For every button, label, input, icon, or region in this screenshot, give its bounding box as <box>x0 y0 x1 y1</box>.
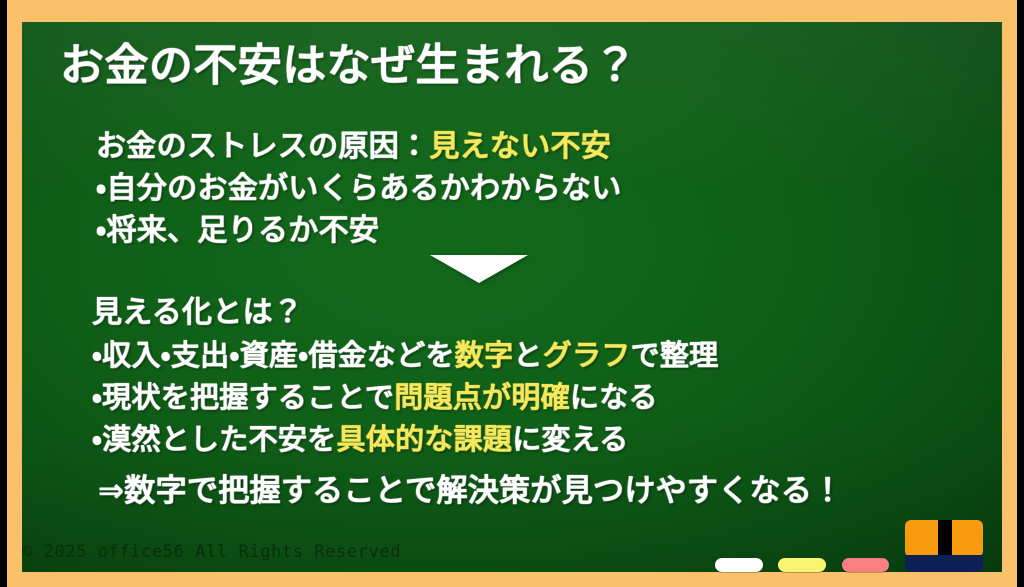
list-item-post: に変える <box>512 422 628 456</box>
list-item-highlight: 数字 <box>455 338 514 372</box>
list-item: ・漠然とした不安を具体的な課題に変える <box>92 418 718 460</box>
conclusion-text: ⇒数字で把握することで解決策が見つけやすくなる！ <box>98 470 843 512</box>
list-item-highlight: 具体的な課題 <box>336 422 512 456</box>
section-a-heading: お金のストレスの原因：見えない不安 <box>96 126 622 168</box>
list-item: ・将来、足りるか不安 <box>96 210 622 252</box>
pink-chalk-stick[interactable] <box>842 558 889 572</box>
list-item-pre: ・収入・支出・資産・借金などを <box>92 338 455 372</box>
eraser-base <box>905 555 983 572</box>
section-a-heading-plain: お金のストレスの原因： <box>96 129 429 164</box>
list-item: ・現状を把握することで問題点が明確になる <box>92 376 718 418</box>
list-item-pre: ・漠然とした不安を <box>92 422 336 456</box>
list-item: ・収入・支出・資産・借金などを数字とグラフで整理 <box>92 334 718 376</box>
list-item-highlight: グラフ <box>543 338 631 372</box>
list-item-pre: ・現状を把握することで <box>92 380 394 414</box>
list-item-post: で整理 <box>631 338 719 372</box>
section-a-heading-highlight: 見えない不安 <box>429 129 611 164</box>
slide-root: お金の不安はなぜ生まれる？ お金のストレスの原因：見えない不安 ・自分のお金がい… <box>0 0 1024 587</box>
list-item-highlight: 問題点が明確 <box>394 380 570 414</box>
section-money-stress: お金のストレスの原因：見えない不安 ・自分のお金がいくらあるかわからない ・将来… <box>96 126 622 252</box>
white-chalk-stick[interactable] <box>715 558 763 572</box>
down-triangle-arrow-icon <box>430 255 528 283</box>
section-visualization: 見える化とは？ ・収入・支出・資産・借金などを数字とグラフで整理 ・現状を把握す… <box>92 292 718 460</box>
eraser-stripe <box>938 520 952 557</box>
page-title: お金の不安はなぜ生まれる？ <box>60 42 638 90</box>
list-item-post: になる <box>570 380 658 414</box>
yellow-chalk-stick[interactable] <box>778 558 826 572</box>
list-item-mid: と <box>513 338 542 372</box>
slide-content: お金の不安はなぜ生まれる？ お金のストレスの原因：見えない不安 ・自分のお金がい… <box>0 0 1024 587</box>
copyright-notice: © 2025 office56 All Rights Reserved <box>22 542 401 562</box>
list-item: ・自分のお金がいくらあるかわからない <box>96 168 622 210</box>
section-b-heading: 見える化とは？ <box>92 292 718 334</box>
blackboard-eraser[interactable] <box>905 520 983 572</box>
